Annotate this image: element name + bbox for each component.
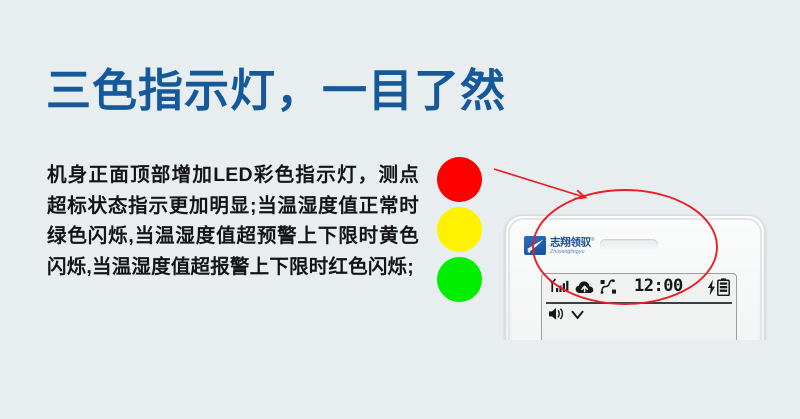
lcd-battery-group [707, 278, 730, 301]
poster-canvas: 三色指示灯，一目了然 机身正面顶部增加LED彩色指示灯，测点超标状态指示更加明显… [0, 0, 800, 419]
device-front-panel: 志翔领驭® Zhixiangl​ingyu [512, 222, 758, 340]
registered-trademark-icon: ® [591, 237, 594, 243]
lcd-status-icons [548, 278, 617, 301]
led-indicator-stack [437, 157, 485, 307]
green-led-dot [437, 257, 482, 302]
lcd-clock: 12:00 [634, 277, 683, 296]
device-photo: 志翔领驭® Zhixiangl​ingyu [500, 210, 800, 340]
cloud-upload-icon [575, 279, 595, 300]
red-led-dot [437, 157, 482, 202]
device-body: 志翔领驭® Zhixiangl​ingyu [505, 215, 765, 340]
device-lcd-screen: 12:00 [541, 273, 737, 340]
brand-name-cn: 志翔领驭® [550, 235, 594, 249]
description-paragraph: 机身正面顶部增加LED彩色指示灯，测点超标状态指示更加明显;当温湿度值正常时绿色… [47, 160, 419, 282]
brand-name-pinyin: Zhixiangl​ingyu [550, 249, 594, 256]
brand-logo-icon [524, 236, 546, 255]
brand-lockup: 志翔领驭® Zhixiangl​ingyu [524, 236, 594, 258]
speaker-volume-icon [548, 307, 568, 326]
led-light-bar-slot [600, 239, 658, 250]
lcd-status-bar: 12:00 [542, 274, 736, 301]
brand-text: 志翔领驭® Zhixiangl​ingyu [550, 235, 594, 256]
yellow-led-dot [437, 207, 482, 252]
signal-bars-icon [548, 278, 570, 301]
brand-name-cn-label: 志翔领驭 [550, 237, 591, 249]
lcd-second-row [542, 304, 736, 326]
network-nodes-icon [600, 279, 617, 300]
chevron-down-icon [571, 308, 584, 326]
battery-icon [717, 278, 730, 301]
callout-arrow [494, 169, 584, 197]
page-title: 三色指示灯，一目了然 [46, 62, 506, 120]
lightning-bolt-icon [707, 279, 716, 301]
